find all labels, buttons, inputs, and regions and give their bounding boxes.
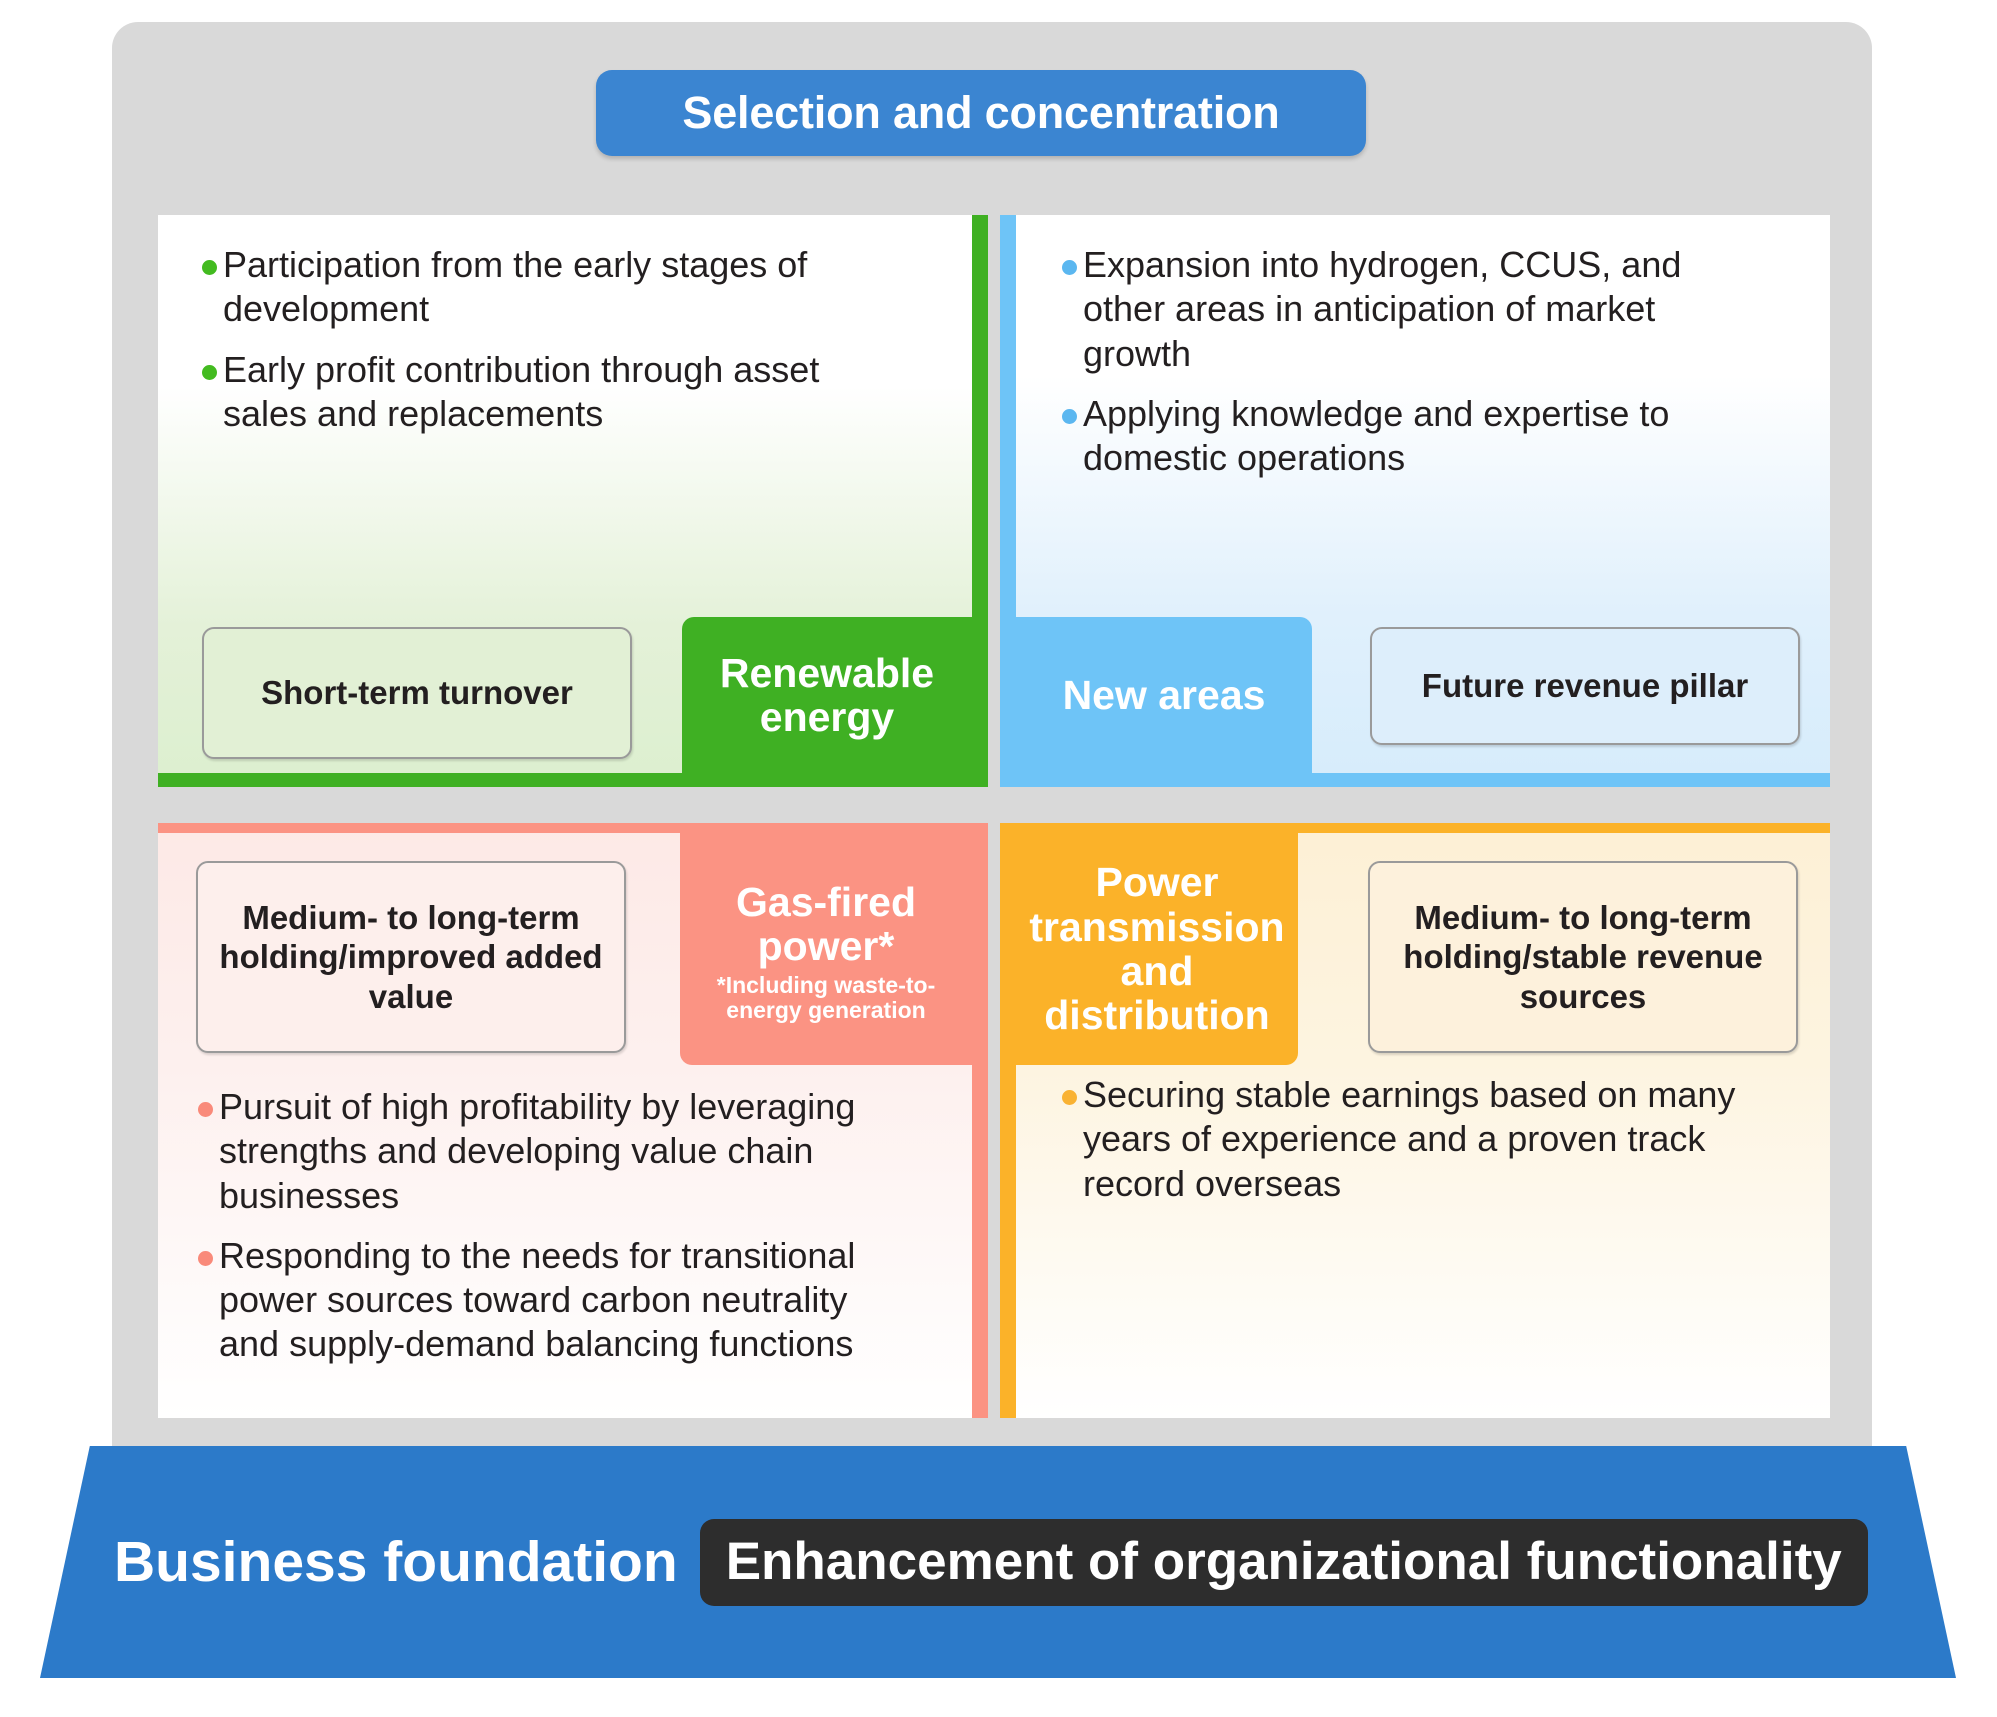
list-item: Participation from the early stages of d… [202, 243, 842, 332]
category-label-line1: Renewable [720, 651, 934, 695]
bullet-text: Expansion into hydrogen, CCUS, and other… [1083, 243, 1762, 376]
category-band-renewable-energy: Short-term turnover Renewable energy [158, 617, 972, 773]
category-label-line3: and distribution [1016, 949, 1298, 1038]
bullet-dot-icon [1062, 1090, 1077, 1105]
foundation-content: Business foundation Enhancement of organ… [40, 1446, 1956, 1678]
bullet-dot-icon [202, 365, 217, 380]
bullet-text: Securing stable earnings based on many y… [1083, 1073, 1762, 1206]
category-label-line1: New areas [1063, 673, 1266, 717]
category-band-new-areas: New areas Future revenue pillar [1016, 617, 1830, 773]
tag-medium-long-term-holding-improved-added-value: Medium- to long-term holding/improved ad… [196, 861, 626, 1053]
bullet-list-renewable-energy: Participation from the early stages of d… [202, 243, 842, 436]
diagram-root: Selection and concentration Participatio… [0, 0, 1997, 1717]
tag-short-term-turnover: Short-term turnover [202, 627, 632, 759]
foundation-label: Business foundation [114, 1529, 678, 1595]
accent-strip-blue-left [1000, 215, 1016, 787]
list-item: Applying knowledge and expertise to dome… [1062, 392, 1762, 481]
category-band-gas-fired-power: Medium- to long-term holding/improved ad… [158, 833, 972, 1065]
category-label-line1: Gas-fired power* [684, 880, 968, 969]
quadrant-grid: Participation from the early stages of d… [158, 215, 1830, 1418]
category-label-line2: transmission [1029, 905, 1284, 949]
accent-strip-red-right [972, 823, 988, 1418]
list-item: Pursuit of high profitability by leverag… [198, 1085, 878, 1218]
accent-strip-red-top [158, 823, 988, 833]
accent-strip-green-bottom [158, 773, 988, 787]
list-item: Expansion into hydrogen, CCUS, and other… [1062, 243, 1762, 376]
accent-strip-blue-bottom [1000, 773, 1830, 787]
bullet-text: Pursuit of high profitability by leverag… [219, 1085, 878, 1218]
bullet-dot-icon [198, 1251, 213, 1266]
category-footnote: *Including waste-to-energy generation [684, 973, 968, 1025]
bullet-text: Early profit contribution through asset … [223, 348, 842, 437]
category-label-new-areas: New areas [1016, 617, 1312, 773]
bullet-list-power-transmission: Securing stable earnings based on many y… [1062, 1073, 1762, 1206]
list-item: Responding to the needs for transitional… [198, 1234, 878, 1367]
bullet-text: Participation from the early stages of d… [223, 243, 842, 332]
list-item: Early profit contribution through asset … [202, 348, 842, 437]
bullet-list-new-areas: Expansion into hydrogen, CCUS, and other… [1062, 243, 1762, 480]
bullet-dot-icon [198, 1102, 213, 1117]
bullet-text: Responding to the needs for transitional… [219, 1234, 878, 1367]
quadrant-gas-fired-power: Medium- to long-term holding/improved ad… [158, 823, 988, 1418]
tag-future-revenue-pillar: Future revenue pillar [1370, 627, 1800, 745]
business-foundation-banner: Business foundation Enhancement of organ… [40, 1446, 1956, 1678]
selection-and-concentration-title: Selection and concentration [596, 70, 1366, 156]
accent-strip-green-right [972, 215, 988, 787]
foundation-enhancement-pill: Enhancement of organizational functional… [700, 1519, 1868, 1606]
category-label-line2: energy [760, 695, 894, 739]
quadrant-power-transmission-and-distribution: Power transmission and distribution Medi… [1000, 823, 1830, 1418]
bullet-dot-icon [202, 260, 217, 275]
quadrant-renewable-energy: Participation from the early stages of d… [158, 215, 988, 787]
bullet-text: Applying knowledge and expertise to dome… [1083, 392, 1762, 481]
quadrant-new-areas: Expansion into hydrogen, CCUS, and other… [1000, 215, 1830, 787]
list-item: Securing stable earnings based on many y… [1062, 1073, 1762, 1206]
accent-strip-orange-top [1000, 823, 1830, 833]
category-band-power-transmission: Power transmission and distribution Medi… [1016, 833, 1830, 1065]
bullet-dot-icon [1062, 409, 1077, 424]
bullet-list-gas-fired-power: Pursuit of high profitability by leverag… [198, 1085, 878, 1367]
category-label-gas-fired-power: Gas-fired power* *Including waste-to-ene… [680, 833, 972, 1065]
category-label-power-transmission: Power transmission and distribution [1016, 833, 1298, 1065]
category-label-renewable-energy: Renewable energy [682, 617, 972, 773]
accent-strip-orange-left [1000, 823, 1016, 1418]
page-title: Selection and concentration [682, 87, 1279, 139]
category-label-line1: Power [1095, 860, 1218, 904]
tag-medium-long-term-holding-stable-revenue-sources: Medium- to long-term holding/stable reve… [1368, 861, 1798, 1053]
bullet-dot-icon [1062, 260, 1077, 275]
